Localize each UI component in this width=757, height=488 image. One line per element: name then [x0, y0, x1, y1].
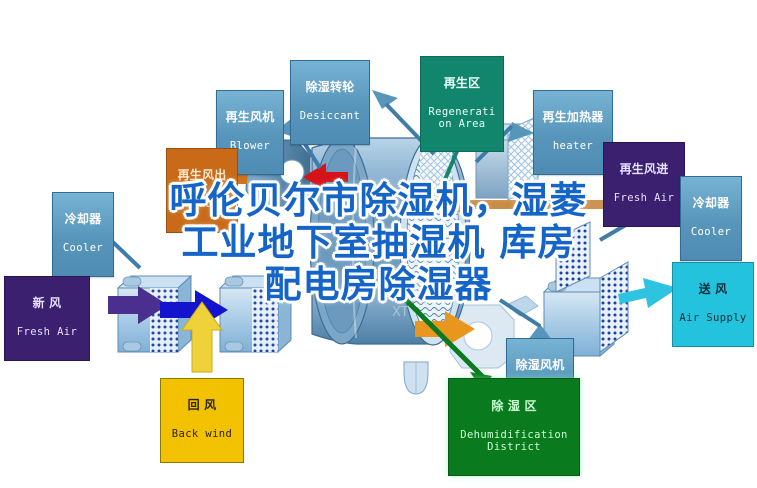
label-fresh-air-in-en: Fresh Air: [7, 327, 87, 338]
svg-text:XT: XT: [392, 305, 409, 320]
label-air-supply-cn: 送 风: [675, 283, 751, 296]
label-fresh-air-in-cn: 新 风: [7, 297, 87, 310]
label-dehumidification-district[interactable]: 除 湿 区 Dehumidification District: [448, 378, 580, 476]
label-regen-blower-cn: 再生风机: [219, 111, 281, 124]
label-cooler-right-en: Cooler: [683, 227, 739, 238]
second-cooler-unit: [220, 276, 291, 352]
label-regen-fresh-air-in-en: Fresh Air: [606, 193, 682, 204]
label-regen-heater-cn: 再生加热器: [536, 111, 610, 124]
label-cooler-right[interactable]: 冷却器 Cooler: [680, 176, 742, 261]
label-regeneration-area-en: Regenerati on Area: [423, 107, 501, 130]
label-regen-exhaust-cn: 再生风出: [169, 169, 235, 182]
label-desiccant-rotor-cn: 除湿转轮: [293, 81, 367, 94]
label-air-supply-en: Air Supply: [675, 313, 751, 324]
label-regen-exhaust[interactable]: 再生风出 Exhaust: [166, 148, 238, 233]
diagram-canvas: XT: [0, 0, 757, 488]
label-fresh-air-in[interactable]: 新 风 Fresh Air: [4, 276, 90, 361]
label-dehumid-blower-cn: 除湿风机: [509, 359, 571, 372]
label-desiccant-rotor[interactable]: 除湿转轮 Desiccant: [290, 60, 370, 145]
label-back-wind[interactable]: 回 风 Back wind: [160, 378, 244, 463]
label-cooler-left[interactable]: 冷却器 Cooler: [52, 192, 114, 277]
label-regen-heater[interactable]: 再生加热器 heater: [533, 90, 613, 175]
label-regen-heater-en: heater: [536, 141, 610, 152]
label-regen-fresh-air-in-cn: 再生风进: [606, 163, 682, 176]
label-back-wind-en: Back wind: [163, 429, 241, 440]
label-desiccant-rotor-en: Desiccant: [293, 111, 367, 122]
flow-arrow-regen-intake: [446, 193, 612, 217]
label-cooler-right-cn: 冷却器: [683, 197, 739, 210]
label-back-wind-cn: 回 风: [163, 399, 241, 412]
label-dehumidification-district-cn: 除 湿 区: [452, 400, 576, 413]
label-regeneration-area[interactable]: 再生区 Regenerati on Area: [420, 56, 504, 152]
label-cooler-left-en: Cooler: [55, 243, 111, 254]
rotor-drain-duct: [404, 362, 428, 394]
label-regeneration-area-cn: 再生区: [423, 77, 501, 90]
label-air-supply[interactable]: 送 风 Air Supply: [672, 262, 754, 347]
label-dehumidification-district-en: Dehumidification District: [452, 430, 576, 453]
label-regen-exhaust-en: Exhaust: [169, 199, 235, 210]
label-cooler-left-cn: 冷却器: [55, 213, 111, 226]
label-regen-fresh-air-in[interactable]: 再生风进 Fresh Air: [603, 142, 685, 227]
